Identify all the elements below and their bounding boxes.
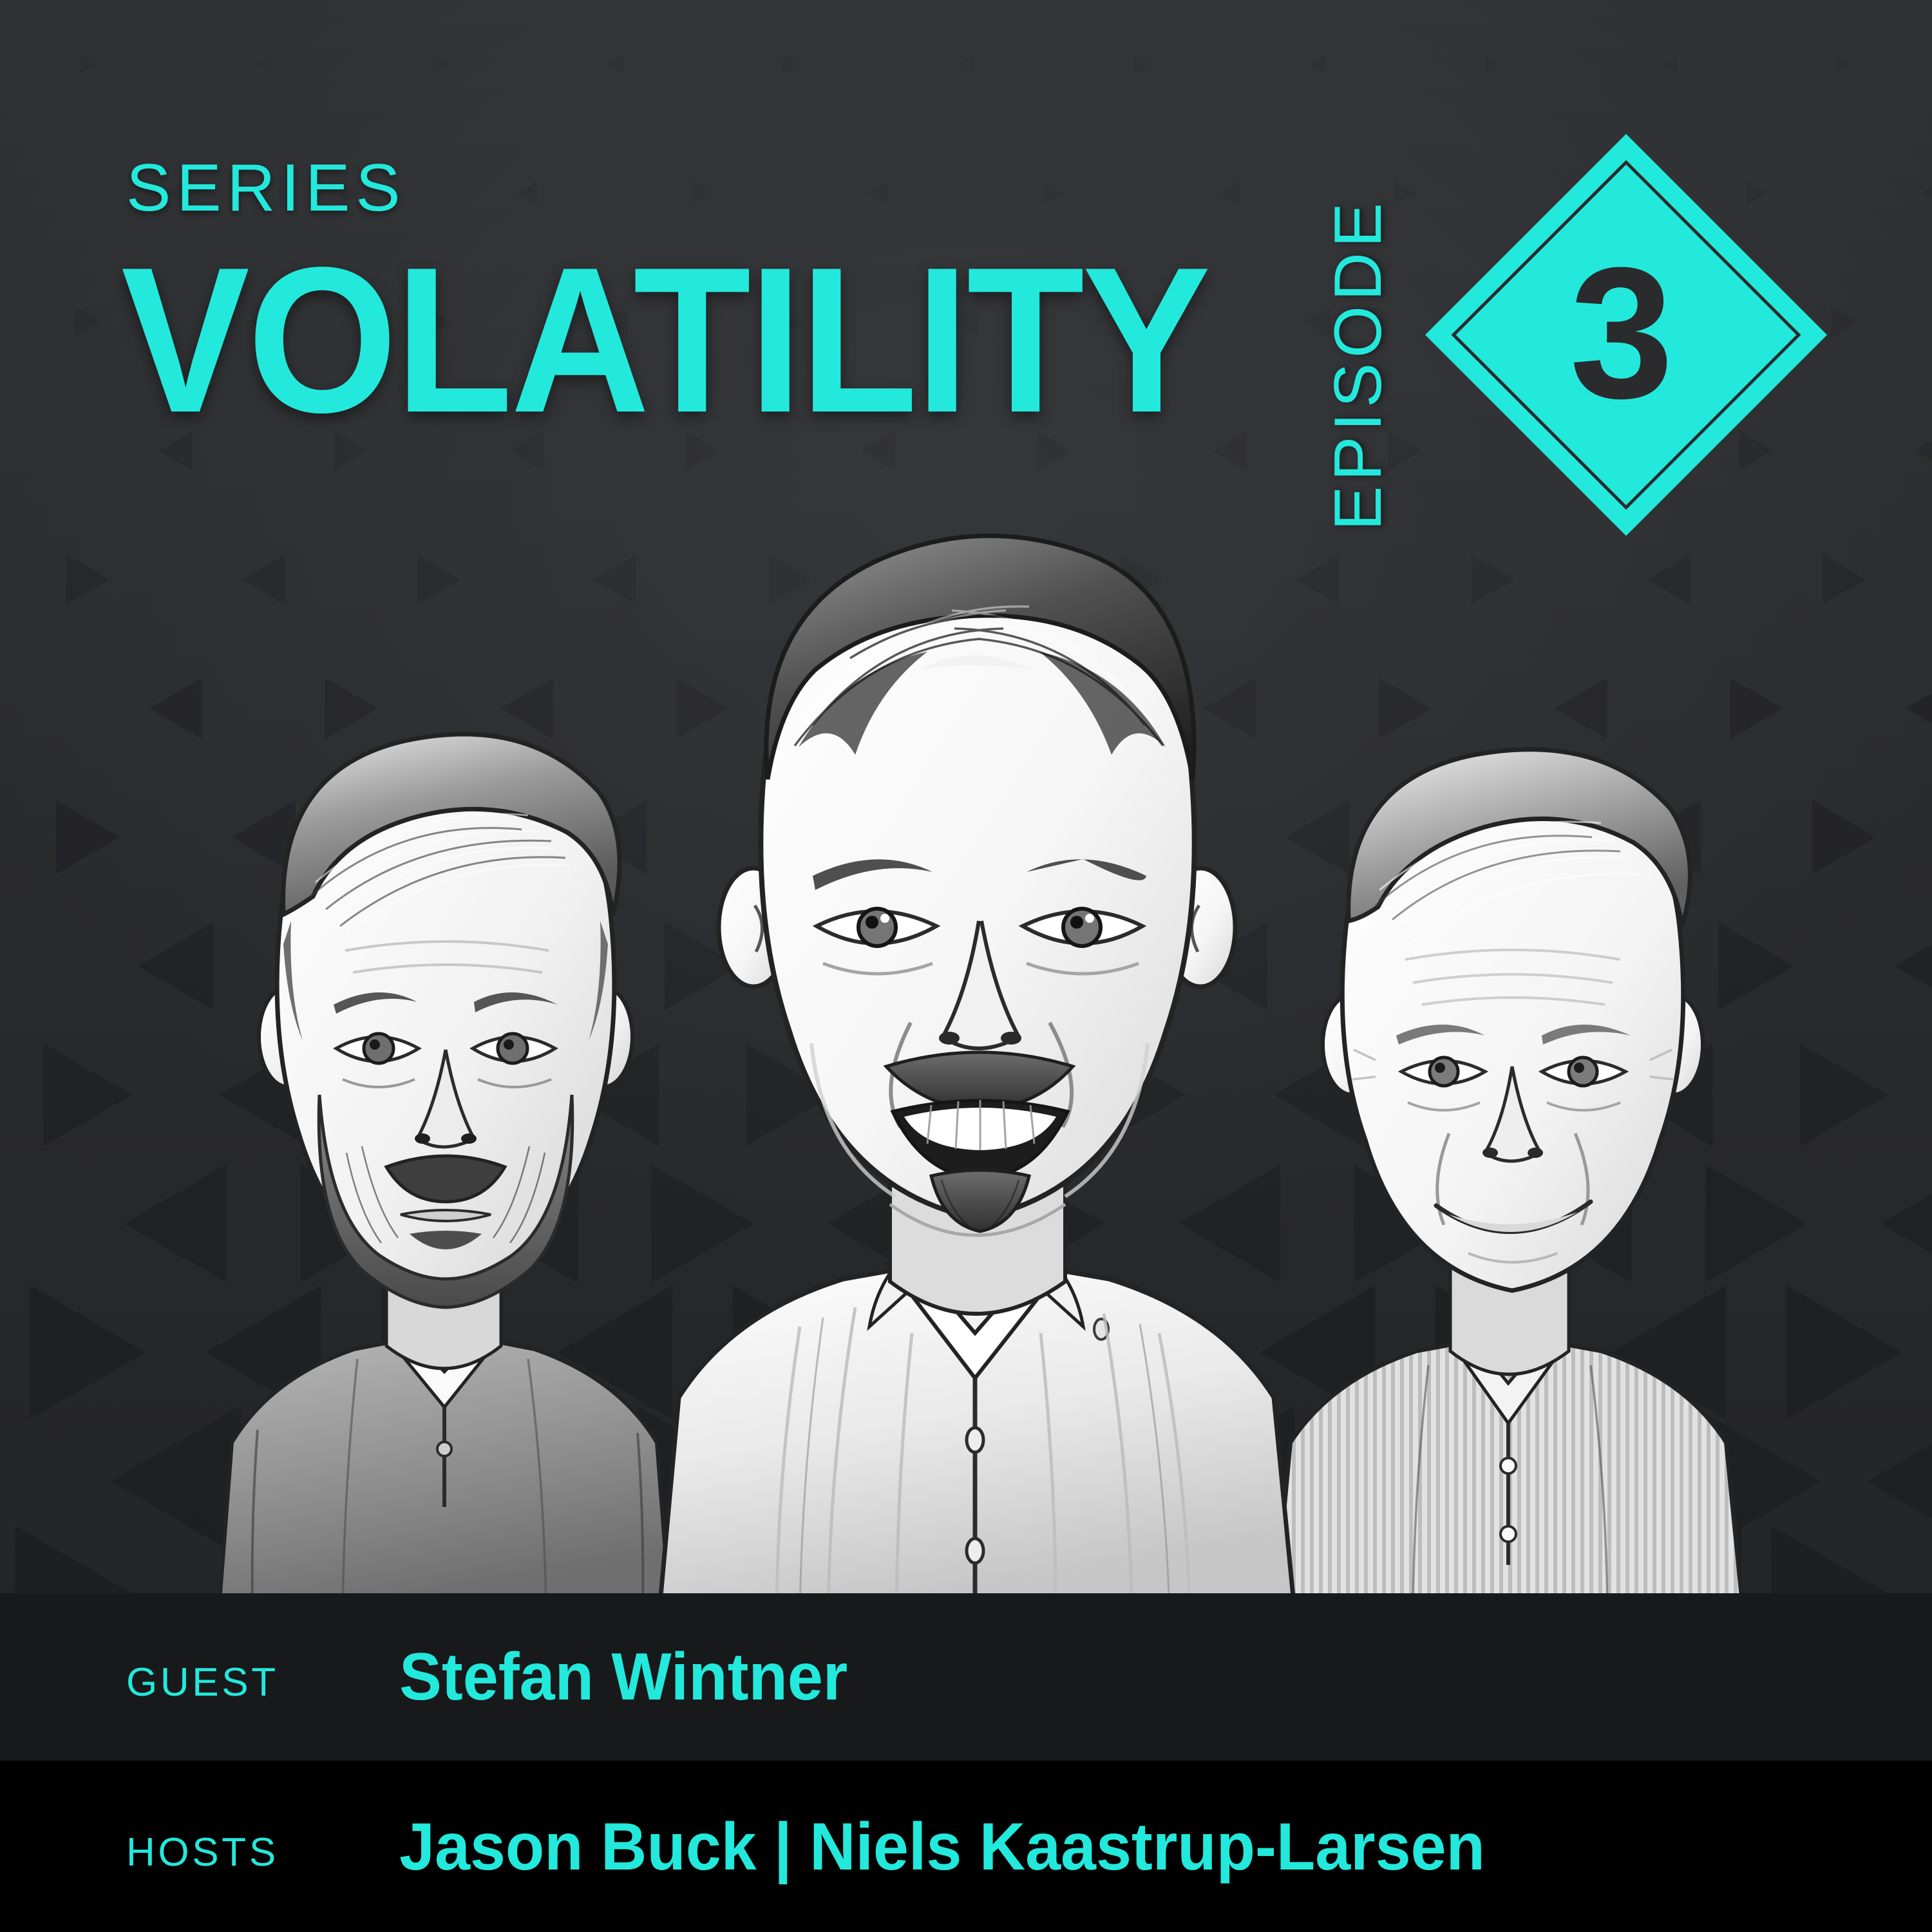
guest-band: GUEST Stefan Wintner [0,1593,1932,1761]
portrait-center [650,477,1307,1610]
hosts-names: Jason Buck | Niels Kaastrup-Larsen [399,1814,1485,1880]
hosts-role-label: HOSTS [126,1833,279,1873]
portrait-right [1256,663,1771,1610]
guest-name: Stefan Wintner [399,1643,848,1710]
portrait-left [193,644,696,1610]
episode-label: EPISODE [1315,234,1405,531]
guest-role-label: GUEST [126,1663,279,1703]
episode-number: 3 [1420,129,1832,541]
podcast-cover-art: SERIES VOLATILITY EPISODE 3 GUEST Stefan… [0,0,1932,1932]
series-title: VOLATILITY [121,237,1209,444]
hosts-band: HOSTS Jason Buck | Niels Kaastrup-Larsen [0,1761,1932,1932]
series-label: SERIES [126,155,406,222]
